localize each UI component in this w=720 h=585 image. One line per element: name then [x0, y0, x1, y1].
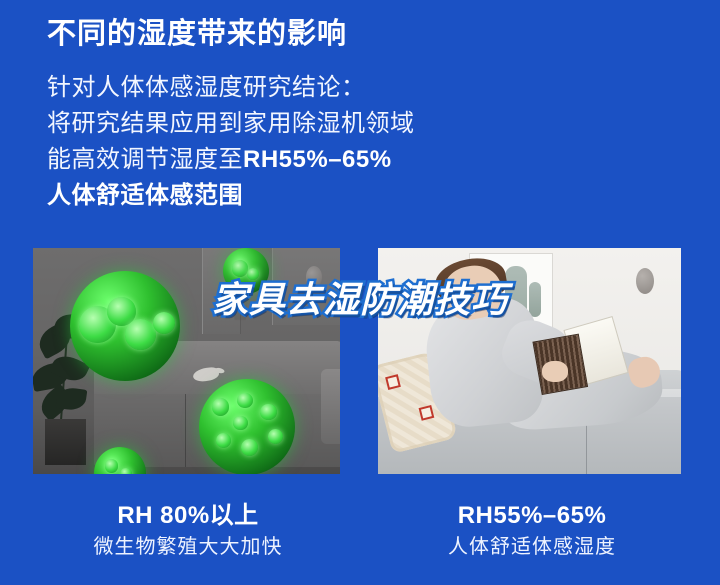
humidity-range-highlight: RH55%–65%: [243, 146, 392, 173]
caption-right-subtext: 人体舒适体感湿度: [382, 532, 682, 562]
caption-row: RH 80%以上 微生物繁殖大大加快 RH55%–65% 人体舒适体感湿度: [0, 500, 720, 580]
intro-line-3-prefix: 能高效调节湿度至: [47, 146, 243, 173]
intro-line-3: 能高效调节湿度至RH55%–65%: [47, 142, 687, 178]
microbe-cluster-virus: [199, 379, 295, 474]
sofa-seam: [185, 394, 186, 467]
intro-paragraph: 针对人体体感湿度研究结论： 将研究结果应用到家用除湿机领域 能高效调节湿度至RH…: [47, 70, 687, 214]
intro-line-4: 人体舒适体感范围: [47, 178, 687, 214]
microbe-blob: [125, 319, 156, 350]
intro-line-2: 将研究结果应用到家用除湿机领域: [47, 106, 687, 142]
pillow-motif: [385, 374, 401, 390]
microbe-blob: [105, 459, 119, 473]
caption-right: RH55%–65% 人体舒适体感湿度: [382, 500, 682, 562]
overlay-headline: 家具去湿防潮技巧: [0, 271, 720, 323]
microbe-blob: [212, 398, 229, 415]
intro-line-1: 针对人体体感湿度研究结论：: [47, 70, 687, 106]
caption-left-heading: RH 80%以上: [38, 500, 338, 532]
page-title: 不同的湿度带来的影响: [47, 14, 687, 54]
microbe-blob: [216, 433, 231, 448]
microbe-blob: [237, 393, 252, 408]
microbe-blob: [120, 468, 131, 474]
caption-right-heading: RH55%–65%: [382, 500, 682, 532]
humidity-infographic-poster: 不同的湿度带来的影响 针对人体体感湿度研究结论： 将研究结果应用到家用除湿机领域…: [0, 0, 720, 585]
person-hand: [542, 361, 567, 382]
caption-left-subtext: 微生物繁殖大大加快: [38, 532, 338, 562]
sofa-arm: [321, 369, 340, 445]
header-block: 不同的湿度带来的影响 针对人体体感湿度研究结论： 将研究结果应用到家用除湿机领域…: [47, 14, 687, 214]
microbe-blob: [260, 404, 276, 420]
caption-left: RH 80%以上 微生物繁殖大大加快: [38, 500, 338, 562]
microbe-blob: [241, 439, 258, 456]
microbe-blob: [233, 416, 247, 430]
microbe-blob: [268, 429, 283, 444]
plant-pot: [45, 419, 86, 465]
